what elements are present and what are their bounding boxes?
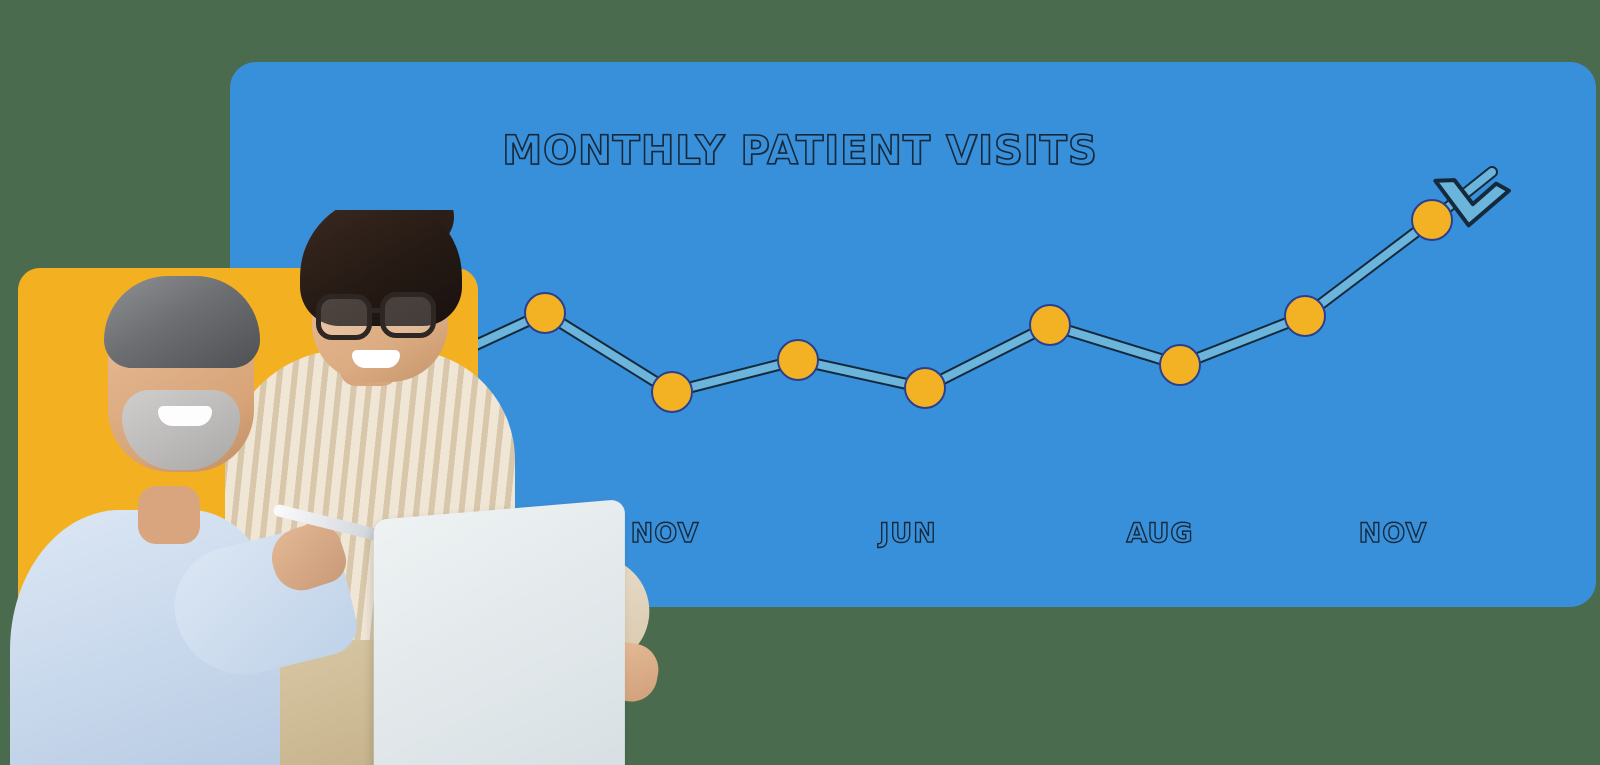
axis-label-nov-1: NOV bbox=[631, 518, 700, 549]
axis-label-aug: AUG bbox=[1126, 518, 1193, 549]
axis-label-jun: JUN bbox=[879, 518, 937, 549]
screenshot-stage: MONTHLY PATIENT VISITS NOV JUN AUG NOV bbox=[0, 0, 1600, 765]
photo-card bbox=[18, 268, 478, 748]
woman-hand bbox=[583, 636, 660, 705]
axis-label-nov-2: NOV bbox=[1359, 518, 1428, 549]
